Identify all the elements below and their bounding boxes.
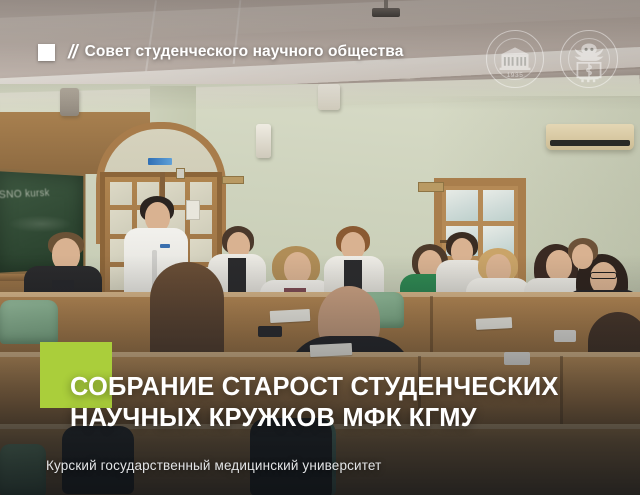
header-label: Совет студенческого научного общества	[85, 43, 404, 61]
title-line-2: НАУЧНЫХ КРУЖКОВ МФК КГМУ	[70, 403, 630, 434]
wall-notice	[186, 200, 200, 220]
chalkboard-text: SNO kursk	[0, 187, 50, 201]
air-conditioner	[546, 124, 634, 150]
subtitle: Курский государственный медицинский унив…	[46, 458, 381, 473]
wall-plaque	[418, 182, 444, 192]
page-title: СОБРАНИЕ СТАРОСТ СТУДЕНЧЕСКИХ НАУЧНЫХ КР…	[70, 372, 630, 434]
emblem-year: 1935	[487, 72, 543, 79]
emblem-group: 1935	[486, 30, 618, 88]
title-line-1: СОБРАНИЕ СТАРОСТ СТУДЕНЧЕСКИХ	[70, 373, 559, 401]
slashes-icon: //	[68, 43, 77, 62]
white-square-icon	[38, 44, 55, 61]
poster: SNO kursk	[0, 0, 640, 495]
wall-plaque	[222, 176, 244, 184]
owl-book-staff-icon	[561, 31, 617, 87]
wall-speaker	[256, 124, 271, 158]
sno-society-emblem	[560, 30, 618, 88]
door-sign	[148, 158, 172, 165]
wall-switch	[176, 168, 185, 179]
kgmu-university-emblem: 1935	[486, 30, 544, 88]
